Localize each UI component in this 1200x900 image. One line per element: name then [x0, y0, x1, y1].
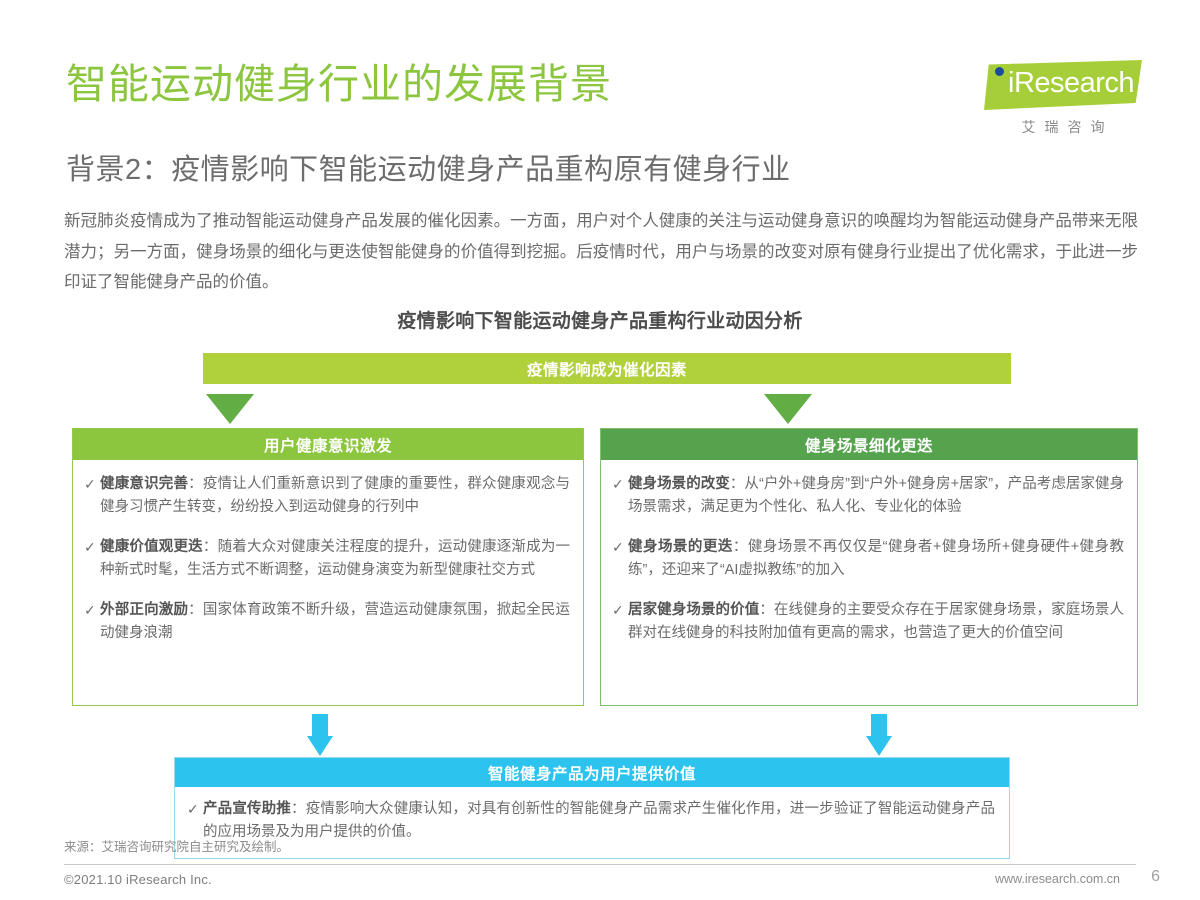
- bullet-lead: 外部正向激励: [100, 602, 188, 618]
- logo-chinese-name: 艾瑞咨询: [984, 117, 1142, 137]
- bullet-lead: 健身场景的更迭: [628, 539, 733, 555]
- bullet-item: ✓ 产品宣传助推：疫情影响大众健康认知，对具有创新性的智能健身产品需求产生催化作…: [187, 798, 995, 845]
- source-note: 来源：艾瑞咨询研究院自主研究及绘制。: [64, 836, 289, 855]
- column-header-right-label: 健身场景细化更迭: [805, 434, 933, 456]
- page-number: 6: [1151, 868, 1160, 886]
- bullet-sep: ：: [203, 539, 218, 555]
- bullet-item: ✓ 健康意识完善：疫情让人们重新意识到了健康的重要性，群众健康观念与健身习惯产生…: [84, 473, 570, 520]
- down-arrow-blue-right-icon: [866, 714, 892, 756]
- arrow-tip: [307, 736, 333, 756]
- bullet-sep: ：: [291, 801, 306, 817]
- figure-title: 疫情影响下智能运动健身产品重构行业动因分析: [0, 306, 1200, 333]
- page-subtitle: 背景2：疫情影响下智能运动健身产品重构原有健身行业: [66, 146, 791, 188]
- logo-wordmark: iResearch: [1008, 67, 1134, 100]
- bullet-text: 外部正向激励：国家体育政策不断升级，营造运动健康氛围，掀起全民运动健身浪潮: [100, 599, 570, 646]
- bullet-item: ✓ 健身场景的更迭：健身场景不再仅仅是“健身者+健身场所+健身硬件+健身教练”，…: [612, 536, 1124, 583]
- bullet-sep: ：: [733, 539, 748, 555]
- check-icon: ✓: [84, 599, 100, 622]
- bottom-box-header: 智能健身产品为用户提供价值: [175, 758, 1009, 787]
- logo-mark: iResearch: [984, 60, 1142, 110]
- top-banner-label: 疫情影响成为催化因素: [527, 358, 687, 380]
- arrow-stem: [312, 714, 328, 738]
- check-icon: ✓: [84, 536, 100, 559]
- iresearch-logo: iResearch 艾瑞咨询: [984, 60, 1142, 138]
- copyright-text: ©2021.10 iResearch Inc.: [64, 872, 212, 887]
- slide-root: 智能运动健身行业的发展背景 背景2：疫情影响下智能运动健身产品重构原有健身行业 …: [0, 0, 1200, 900]
- bottom-box-header-label: 智能健身产品为用户提供价值: [488, 762, 696, 784]
- column-body-right: ✓ 健身场景的改变：从“户外+健身房”到“户外+健身房+居家”，产品考虑居家健身…: [601, 460, 1137, 656]
- bullet-text: 居家健身场景的价值：在线健身的主要受众存在于居家健身场景，家庭场景人群对在线健身…: [628, 599, 1124, 646]
- bullet-text: 健康意识完善：疫情让人们重新意识到了健康的重要性，群众健康观念与健身习惯产生转变…: [100, 473, 570, 520]
- bullet-lead: 产品宣传助推: [203, 801, 291, 817]
- bullet-sep: ：: [759, 602, 774, 618]
- arrow-stem: [871, 714, 887, 738]
- column-header-right: 健身场景细化更迭: [601, 429, 1137, 460]
- bullet-item: ✓ 健康价值观更迭：随着大众对健康关注程度的提升，运动健康逐渐成为一种新式时髦，…: [84, 536, 570, 583]
- check-icon: ✓: [612, 473, 628, 496]
- bullet-lead: 健康价值观更迭: [100, 539, 203, 555]
- column-box-user-health-awareness: 用户健康意识激发 ✓ 健康意识完善：疫情让人们重新意识到了健康的重要性，群众健康…: [72, 428, 584, 706]
- bullet-lead: 健康意识完善: [100, 476, 188, 492]
- column-header-left-label: 用户健康意识激发: [264, 434, 392, 456]
- page-title: 智能运动健身行业的发展背景: [66, 62, 612, 108]
- down-arrow-green-left-icon: [206, 394, 254, 424]
- bullet-sep: ：: [730, 476, 745, 492]
- check-icon: ✓: [187, 798, 203, 821]
- check-icon: ✓: [612, 599, 628, 622]
- bottom-box-product-value: 智能健身产品为用户提供价值 ✓ 产品宣传助推：疫情影响大众健康认知，对具有创新性…: [174, 757, 1010, 859]
- check-icon: ✓: [612, 536, 628, 559]
- down-arrow-blue-left-icon: [307, 714, 333, 756]
- website-url: www.iresearch.com.cn: [995, 872, 1120, 886]
- bullet-item: ✓ 居家健身场景的价值：在线健身的主要受众存在于居家健身场景，家庭场景人群对在线…: [612, 599, 1124, 646]
- down-arrow-green-right-icon: [764, 394, 812, 424]
- footer-divider: [64, 864, 1136, 865]
- logo-i-stem: [995, 79, 1004, 107]
- bullet-text: 健身场景的更迭：健身场景不再仅仅是“健身者+健身场所+健身硬件+健身教练”，还迎…: [628, 536, 1124, 583]
- column-box-fitness-scenario: 健身场景细化更迭 ✓ 健身场景的改变：从“户外+健身房”到“户外+健身房+居家”…: [600, 428, 1138, 706]
- bullet-lead: 居家健身场景的价值: [628, 602, 759, 618]
- bottom-box-body: ✓ 产品宣传助推：疫情影响大众健康认知，对具有创新性的智能健身产品需求产生催化作…: [175, 787, 1009, 858]
- column-body-left: ✓ 健康意识完善：疫情让人们重新意识到了健康的重要性，群众健康观念与健身习惯产生…: [73, 460, 583, 656]
- arrow-tip: [866, 736, 892, 756]
- bullet-sep: ：: [188, 476, 203, 492]
- logo-i-dot-icon: [995, 67, 1004, 76]
- bullet-lead: 健身场景的改变: [628, 476, 730, 492]
- bullet-text: 健康价值观更迭：随着大众对健康关注程度的提升，运动健康逐渐成为一种新式时髦，生活…: [100, 536, 570, 583]
- bullet-text: 健身场景的改变：从“户外+健身房”到“户外+健身房+居家”，产品考虑居家健身场景…: [628, 473, 1124, 520]
- check-icon: ✓: [84, 473, 100, 496]
- intro-paragraph: 新冠肺炎疫情成为了推动智能运动健身产品发展的催化因素。一方面，用户对个人健康的关…: [64, 206, 1138, 298]
- bullet-sep: ：: [188, 602, 203, 618]
- bullet-item: ✓ 健身场景的改变：从“户外+健身房”到“户外+健身房+居家”，产品考虑居家健身…: [612, 473, 1124, 520]
- bullet-body: 疫情影响大众健康认知，对具有创新性的智能健身产品需求产生催化作用，进一步验证了智…: [203, 801, 995, 840]
- column-header-left: 用户健康意识激发: [73, 429, 583, 460]
- bullet-text: 产品宣传助推：疫情影响大众健康认知，对具有创新性的智能健身产品需求产生催化作用，…: [203, 798, 995, 845]
- bullet-item: ✓ 外部正向激励：国家体育政策不断升级，营造运动健康氛围，掀起全民运动健身浪潮: [84, 599, 570, 646]
- top-banner: 疫情影响成为催化因素: [203, 353, 1011, 384]
